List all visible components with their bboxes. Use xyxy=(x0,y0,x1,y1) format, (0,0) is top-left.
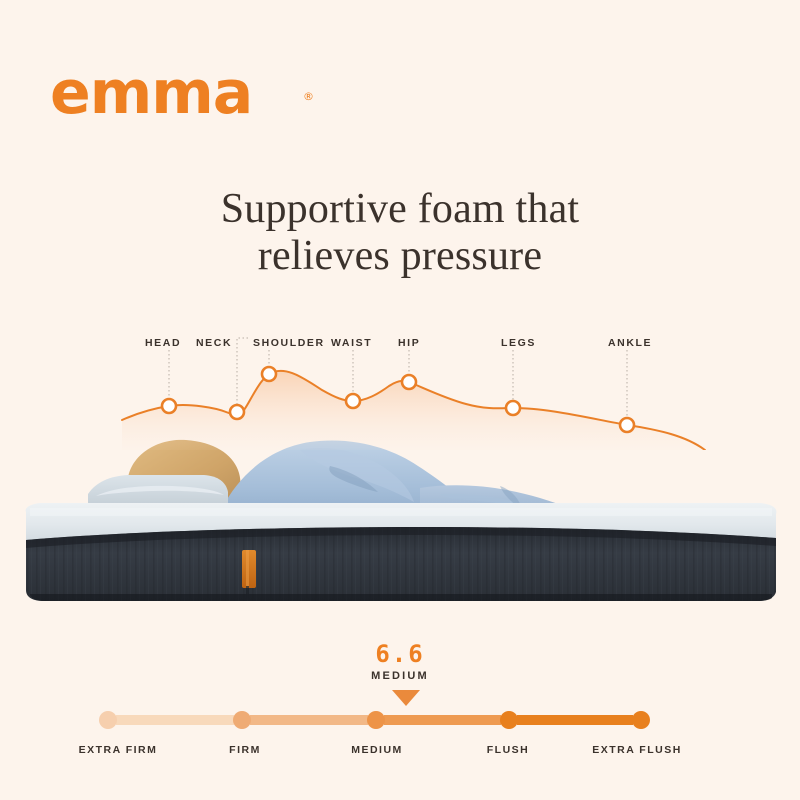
scale-dot-extra-firm[interactable] xyxy=(99,711,117,729)
scale-segment-flush xyxy=(517,715,633,725)
headline-line-2: relieves pressure xyxy=(0,233,800,280)
scale-dot-extra-flush[interactable] xyxy=(632,711,650,729)
page-title: Supportive foam that relieves pressure xyxy=(0,186,800,280)
marker-head[interactable] xyxy=(162,399,176,413)
headline-line-1: Supportive foam that xyxy=(0,186,800,233)
leader-line-neck xyxy=(237,338,248,404)
scale-label-extra-firm: EXTRA FIRM xyxy=(79,744,158,756)
pressure-point-graph xyxy=(0,320,800,450)
marker-legs[interactable] xyxy=(506,401,520,415)
firmness-scale-bar[interactable] xyxy=(0,706,800,740)
scale-dot-medium[interactable] xyxy=(367,711,385,729)
marker-shoulder[interactable] xyxy=(262,367,276,381)
emma-wordmark-icon: emma xyxy=(50,62,252,124)
scale-dot-firm[interactable] xyxy=(233,711,251,729)
scale-segment-medium xyxy=(384,715,501,725)
marker-hip[interactable] xyxy=(402,375,416,389)
scale-label-flush: FLUSH xyxy=(487,744,530,756)
marker-neck[interactable] xyxy=(230,405,244,419)
marker-ankle[interactable] xyxy=(620,418,634,432)
firmness-pointer-icon xyxy=(392,690,420,706)
registered-trademark-icon: ® xyxy=(303,90,314,103)
scale-label-firm: FIRM xyxy=(229,744,261,756)
marker-waist[interactable] xyxy=(346,394,360,408)
scale-dot-flush[interactable] xyxy=(500,711,518,729)
scale-segment-extra-firm xyxy=(116,715,234,725)
emma-mattress-infographic: emma ® Supportive foam that relieves pre… xyxy=(0,0,800,800)
scale-label-medium: MEDIUM xyxy=(351,744,403,756)
emma-logo[interactable]: emma ® xyxy=(50,62,330,124)
scale-segment-firm xyxy=(250,715,368,725)
scale-label-extra-flush: EXTRA FLUSH xyxy=(592,744,682,756)
firmness-score: 6.6 xyxy=(0,640,800,668)
firmness-score-label: MEDIUM xyxy=(0,670,800,682)
